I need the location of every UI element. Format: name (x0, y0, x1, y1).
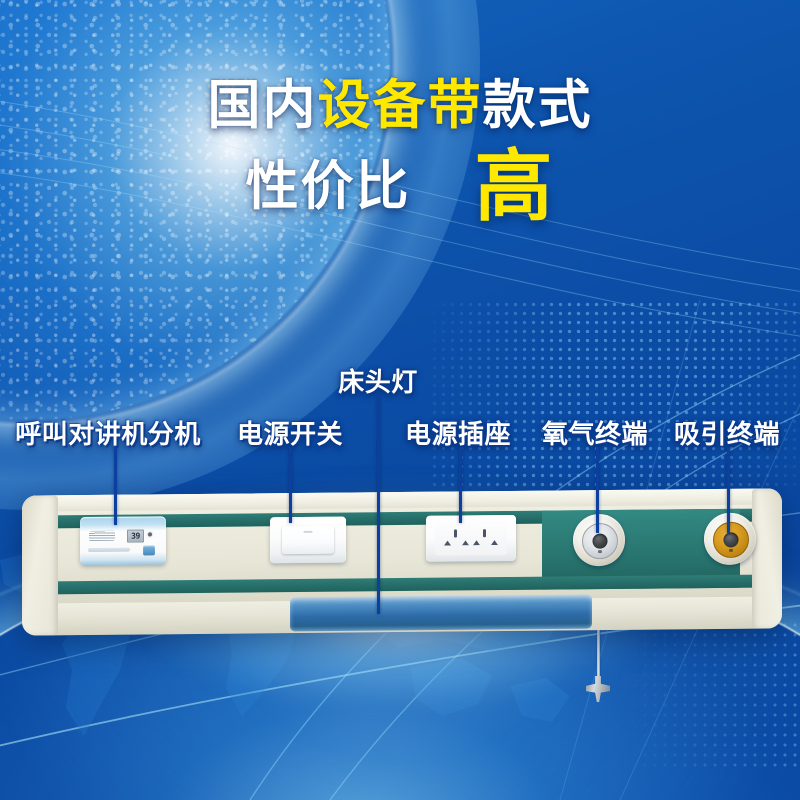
callout-oxygen-line (596, 447, 599, 533)
headline-block: 国内设备带款式 性价比 高 (0, 78, 800, 226)
callout-power-socket-label: 电源插座 (405, 414, 511, 451)
poster-canvas: 国内设备带款式 性价比 高 呼叫对讲机分机 电源开关 床头灯 电源插座 氧气终端… (0, 0, 800, 800)
callout-oxygen-label: 氧气终端 (542, 414, 648, 451)
headline-seg-2: 设备带 (318, 75, 483, 136)
callout-suction-line (727, 447, 730, 533)
callout-suction-label: 吸引终端 (674, 414, 780, 451)
callout-power-switch-line (289, 447, 292, 523)
headline-seg-1: 国内 (208, 75, 318, 136)
callout-intercom-line (114, 447, 117, 525)
callout-intercom-label: 呼叫对讲机分机 (15, 414, 201, 451)
callout-power-socket-line (459, 447, 462, 523)
callout-bed-lamp-label: 床头灯 (338, 362, 418, 399)
headline-line-1: 国内设备带款式 (0, 78, 800, 134)
headline-value-text: 性价比 (245, 159, 410, 215)
headline-seg-3: 款式 (483, 75, 593, 136)
headline-emphasis-text: 高 (474, 148, 554, 226)
callout-power-switch-label: 电源开关 (237, 414, 343, 451)
headline-line-2: 性价比 高 (0, 148, 800, 226)
callout-bed-lamp-line (377, 396, 380, 614)
